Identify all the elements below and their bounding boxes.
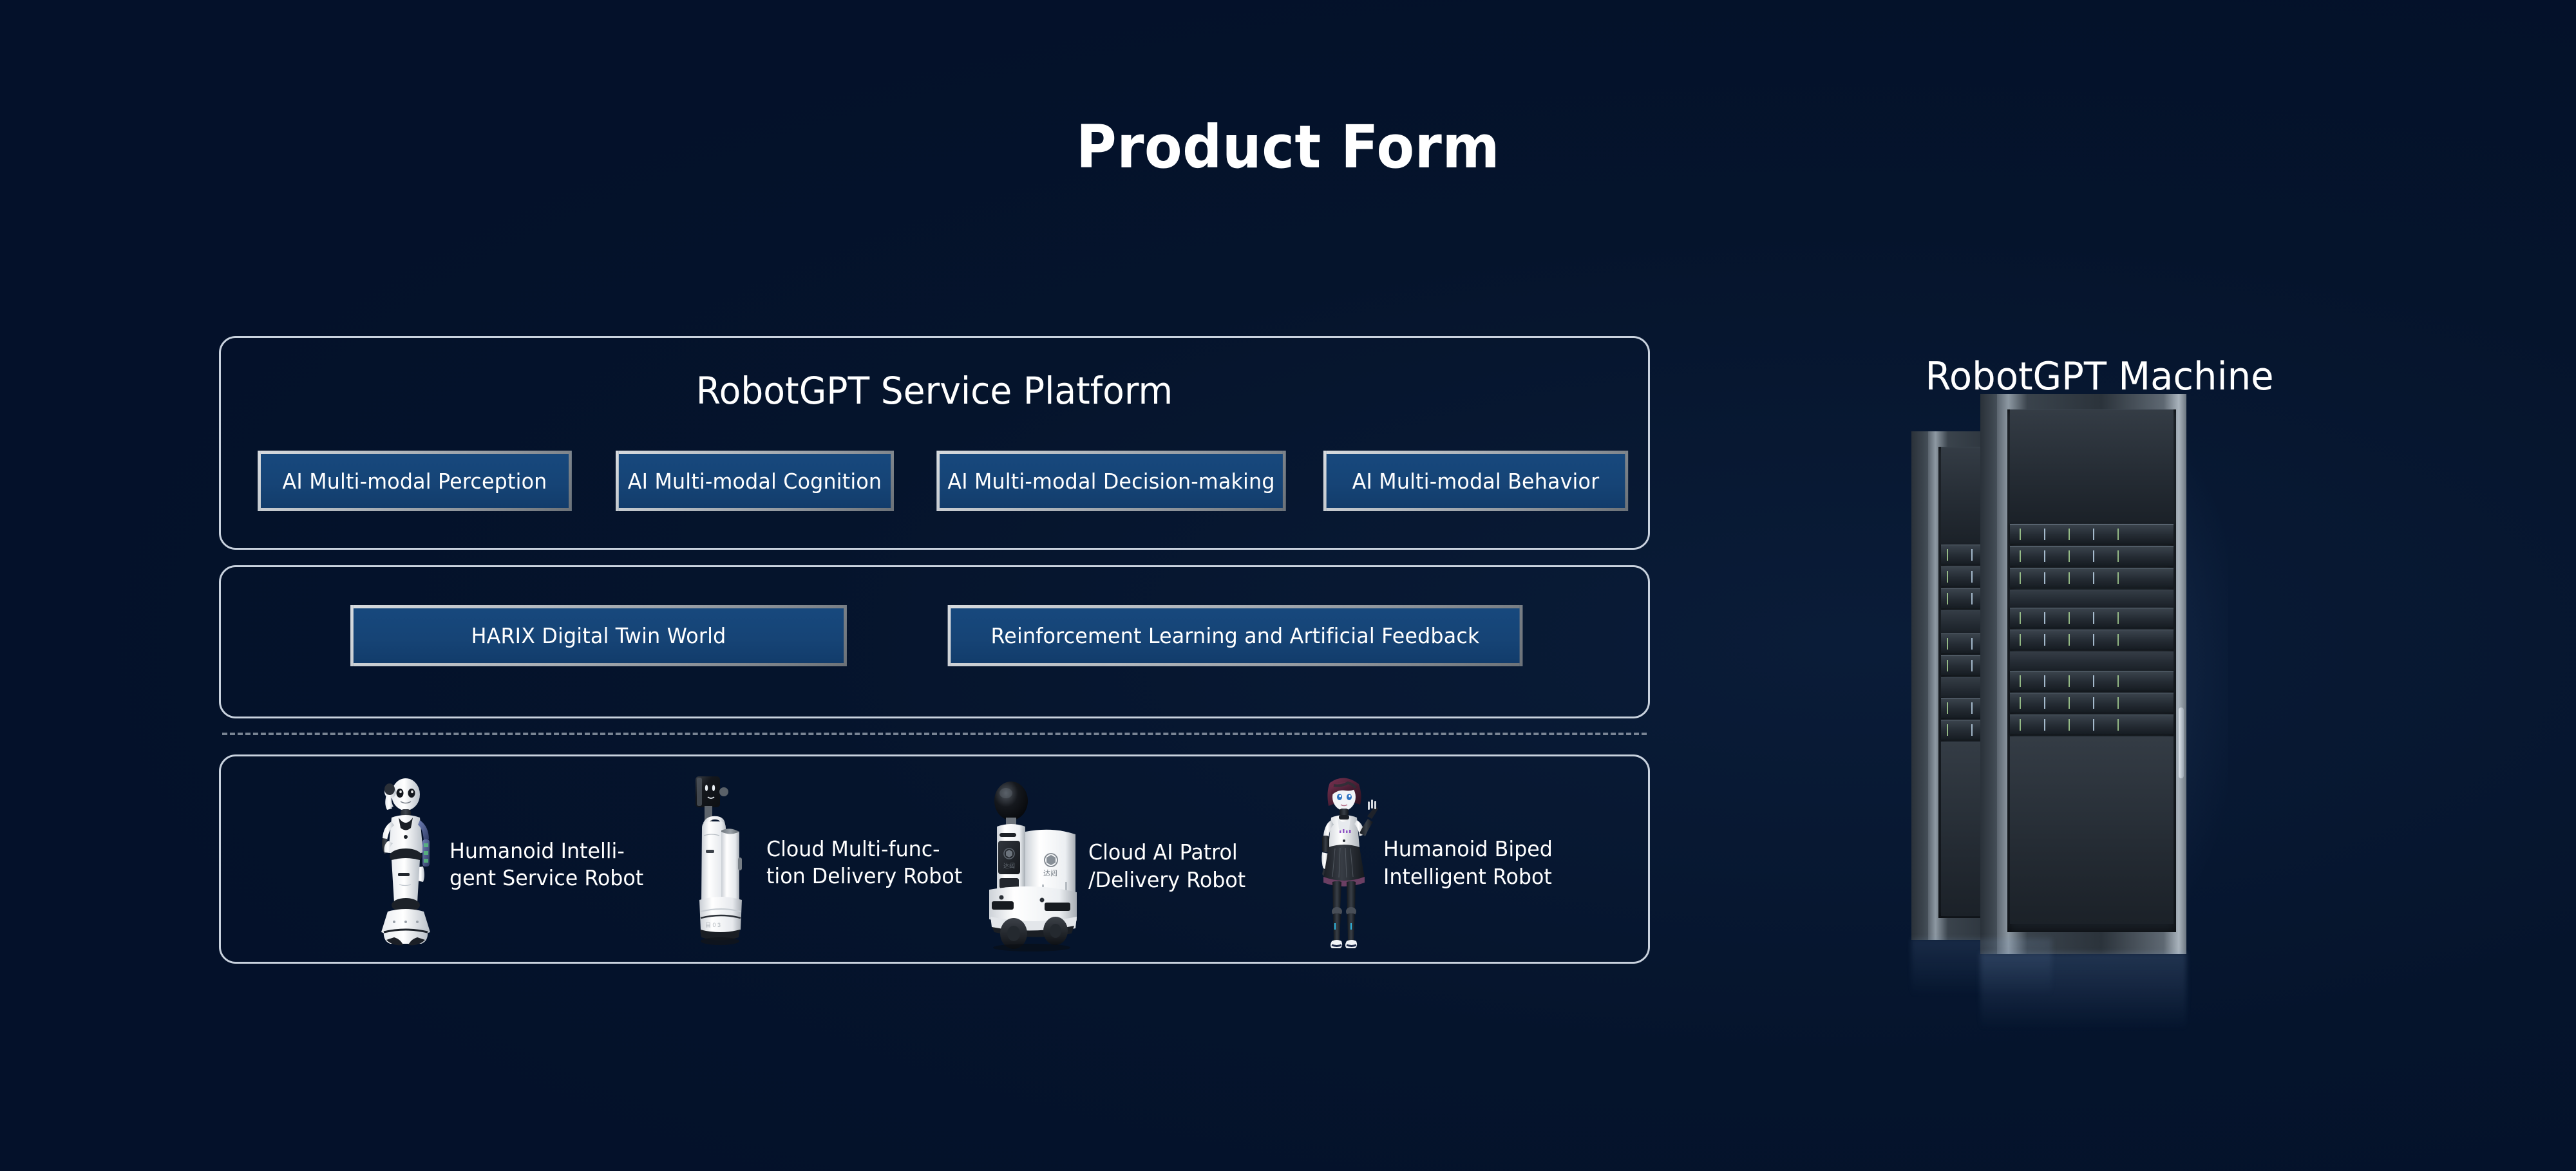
robot-label: Humanoid Intelli- gent Service Robot (450, 838, 643, 892)
robot-label: Humanoid Biped Intelligent Robot (1383, 836, 1553, 890)
patrol-delivery-robot-icon: 达闼 达闼 (980, 778, 1083, 955)
machine-title: RobotGPT Machine (1877, 354, 2322, 399)
robot-item-patrol-delivery[interactable]: 达闼 达闼 (980, 778, 1252, 955)
platform-panel-title: RobotGPT Service Platform (256, 369, 1612, 413)
platform-panel: RobotGPT Service Platform (219, 336, 1650, 550)
biped-humanoid-robot-icon (1311, 771, 1378, 955)
robot-label: Cloud AI Patrol /Delivery Robot (1088, 839, 1245, 893)
rack-reflection (1980, 953, 2186, 1030)
svg-text:目 0 3: 目 0 3 (705, 922, 721, 928)
chip-ai-multimodal-behavior[interactable]: AI Multi-modal Behavior (1323, 451, 1628, 511)
section-divider (222, 733, 1647, 735)
robot-item-humanoid-service[interactable]: Humanoid Intelli- gent Service Robot (361, 778, 652, 951)
cloud-delivery-robot-icon: 目 0 3 (684, 773, 761, 953)
slide-canvas: Product Form RobotGPT Service Platform A… (0, 0, 2576, 1171)
chip-harix-digital-twin-world[interactable]: HARIX Digital Twin World (350, 605, 847, 666)
robot-label: Cloud Multi-func- tion Delivery Robot (766, 836, 962, 890)
robot-item-cloud-delivery[interactable]: 目 0 3 Cloud Multi-func- tion Delivery Ro… (684, 773, 971, 953)
svg-text:达闼: 达闼 (1003, 862, 1015, 869)
robotgpt-machine-block: RobotGPT Machine (1868, 335, 2331, 1043)
chip-ai-multimodal-cognition[interactable]: AI Multi-modal Cognition (616, 451, 894, 511)
chip-ai-multimodal-perception[interactable]: AI Multi-modal Perception (258, 451, 572, 511)
chip-ai-multimodal-decision-making[interactable]: AI Multi-modal Decision-making (936, 451, 1285, 511)
humanoid-service-robot-icon (361, 778, 444, 951)
robot-item-biped-humanoid[interactable]: Humanoid Biped Intelligent Robot (1311, 771, 1560, 955)
server-rack-icon (1980, 394, 2186, 954)
chip-reinforcement-learning-and-artificial-feedback[interactable]: Reinforcement Learning and Artificial Fe… (948, 605, 1523, 666)
page-title: Product Form (90, 113, 2486, 182)
svg-text:达闼: 达闼 (1043, 869, 1057, 877)
